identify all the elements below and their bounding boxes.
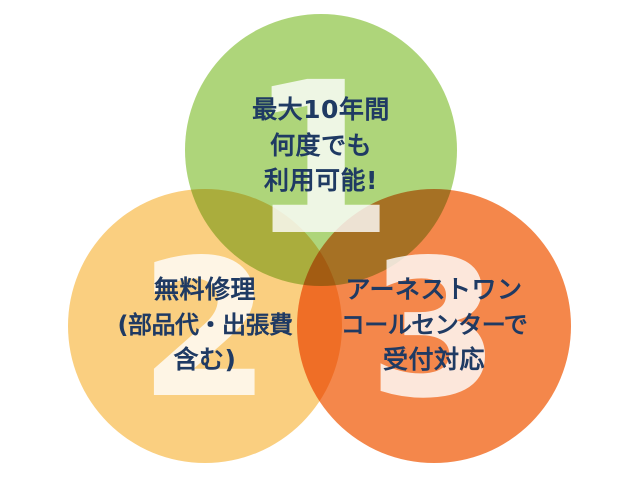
caption-top-line-2: 何度でも xyxy=(185,128,457,164)
venn-circle-layer xyxy=(0,0,620,495)
caption-top-line-1: 最大10年間 xyxy=(185,92,457,128)
caption-right-circle: アーネストワン コールセンターで 受付対応 xyxy=(292,272,576,377)
venn-diagram-figure: 1 2 3 最大10年間 何度でも 利用可能! 無料修理 (部品代・出張費 含む… xyxy=(0,0,620,495)
caption-right-line-3: 受付対応 xyxy=(292,342,576,378)
caption-top-circle: 最大10年間 何度でも 利用可能! xyxy=(185,92,457,199)
caption-right-line-2: コールセンターで xyxy=(292,308,576,342)
caption-top-line-3: 利用可能! xyxy=(185,163,457,199)
caption-right-line-1: アーネストワン xyxy=(292,272,576,308)
